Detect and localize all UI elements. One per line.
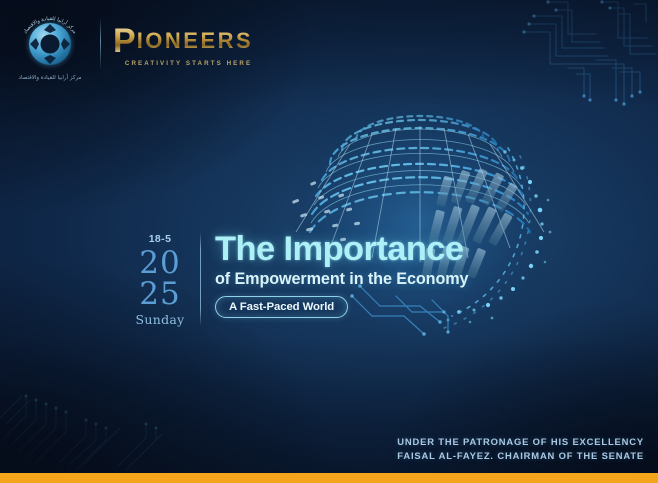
pioneers-logo: PIONEERS CREATIVITY STARTS HERE [113,22,253,67]
pioneers-rest: IONEERS [137,28,254,53]
date-year-top: 20 [132,248,188,280]
pioneers-initial: P [113,22,137,60]
logo-subtitle-arabic: مركز أرابيا للقيادة والاقتصاد [12,75,88,81]
header-divider [100,18,101,70]
logo-sphere-cutouts [29,23,71,65]
patronage-line-1: UNDER THE PATRONAGE OF HIS EXCELLENCY [397,435,644,450]
patronage-text: UNDER THE PATRONAGE OF HIS EXCELLENCY FA… [397,435,644,464]
event-title-main: The Importance [215,232,468,267]
pioneers-wordmark: PIONEERS [113,24,253,58]
event-title-sub: of Empowerment in the Economy [215,270,468,289]
patronage-line-2: FAISAL AL-FAYEZ. CHAIRMAN OF THE SENATE [397,449,644,464]
arabia-center-logo: مركز أرابيا للقيادة والاقتصاد مركز أرابي… [12,8,88,80]
date-title-divider [200,232,201,326]
event-poster: مركز أرابيا للقيادة والاقتصاد مركز أرابي… [0,0,658,483]
pioneers-tagline: CREATIVITY STARTS HERE [113,60,253,67]
date-day-month: 18-5 [132,234,188,245]
event-theme-badge: A Fast-Paced World [215,296,348,318]
event-date-block: 18-5 20 25 Sunday [132,232,188,326]
event-titles: The Importance of Empowerment in the Eco… [213,232,468,326]
bottom-accent-bar [0,473,658,483]
date-year-bottom: 25 [132,279,188,311]
date-weekday: Sunday [132,314,188,327]
event-content: 18-5 20 25 Sunday The Importance of Empo… [132,232,468,326]
poster-header: مركز أرابيا للقيادة والاقتصاد مركز أرابي… [12,8,253,80]
